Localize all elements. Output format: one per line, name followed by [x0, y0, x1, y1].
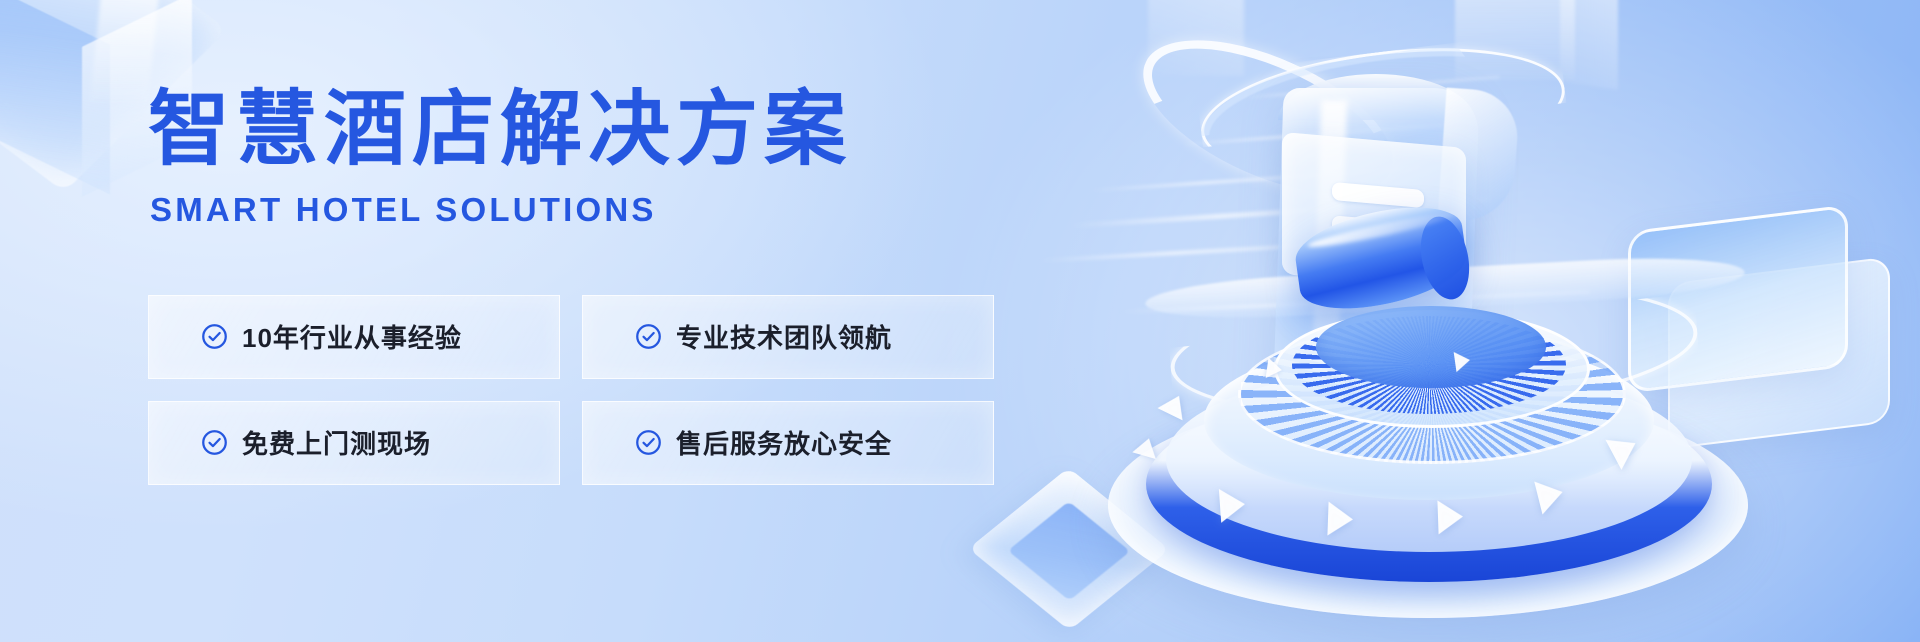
chevron-arrow-icon-5	[1437, 500, 1463, 535]
feature-label: 专业技术团队领航	[676, 318, 892, 355]
check-circle-icon	[201, 323, 228, 350]
check-circle-icon	[635, 429, 662, 456]
smart-hotel-banner: 智慧酒店解决方案 SMART HOTEL SOLUTIONS 10年行业从事经验…	[0, 0, 1920, 642]
glass-cube-top-left-face-left	[0, 0, 110, 195]
platform-core-disc	[1316, 306, 1546, 388]
feature-item-free-survey[interactable]: 免费上门测现场	[148, 401, 560, 485]
chevron-arrow-icon-8	[1266, 358, 1284, 380]
banner-content: 智慧酒店解决方案 SMART HOTEL SOLUTIONS 10年行业从事经验…	[148, 86, 1028, 485]
feature-label: 免费上门测现场	[242, 424, 431, 461]
feature-item-experience[interactable]: 10年行业从事经验	[148, 295, 560, 379]
feature-label: 售后服务放心安全	[676, 424, 892, 461]
hero-illustration	[1050, 0, 1920, 642]
feature-item-team[interactable]: 专业技术团队领航	[582, 295, 994, 379]
chevron-arrow-icon-4	[1327, 502, 1353, 537]
circular-tech-platform-icon	[1108, 300, 1748, 630]
check-circle-icon	[201, 429, 228, 456]
feature-label: 10年行业从事经验	[242, 318, 462, 355]
check-circle-icon	[635, 323, 662, 350]
chevron-arrow-icon-3	[1219, 487, 1246, 523]
page-title: 智慧酒店解决方案	[148, 86, 1028, 175]
page-subtitle: SMART HOTEL SOLUTIONS	[150, 191, 1028, 229]
chevron-arrow-icon-9	[1454, 350, 1472, 372]
feature-grid: 10年行业从事经验 专业技术团队领航 免费上门测现场	[148, 295, 1028, 485]
feature-item-after-sales[interactable]: 售后服务放心安全	[582, 401, 994, 485]
